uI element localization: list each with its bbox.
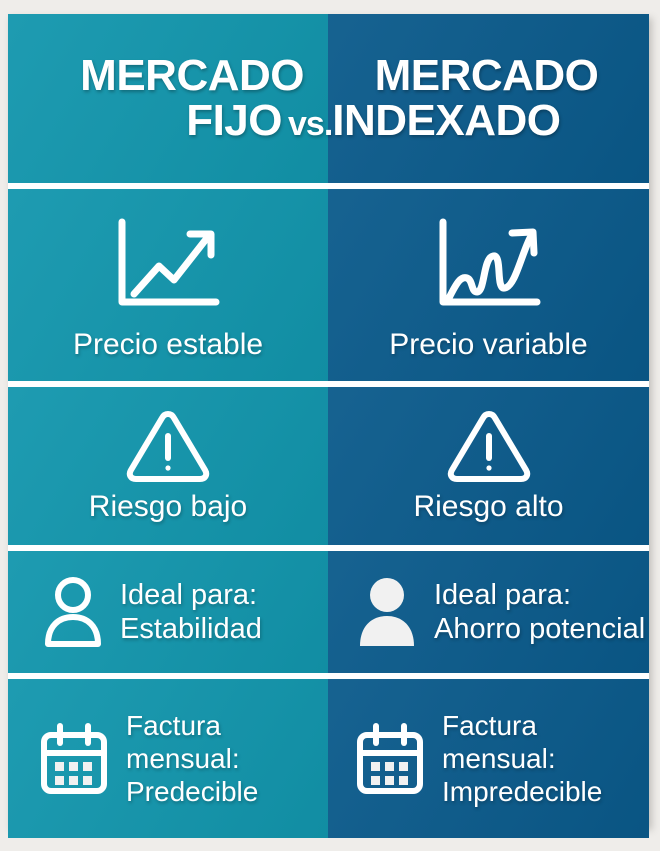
- text-factura-left: Factura mensual: Predecible: [126, 709, 258, 808]
- cell-factura-left: Factura mensual: Predecible: [8, 679, 328, 838]
- header-left-line2: FIJO: [186, 99, 304, 144]
- calendar-icon: [38, 721, 110, 797]
- caption-riesgo-left: Riesgo bajo: [89, 490, 247, 524]
- cell-ideal-right: Ideal para: Ahorro potencial: [328, 551, 649, 673]
- line-chart-steady-icon: [112, 216, 224, 314]
- header-right-line2: INDEXADO: [332, 96, 560, 145]
- infographic-root: MERCADO FIJO MERCADO vs.INDEXADO: [0, 0, 660, 851]
- text-factura-right: Factura mensual: Impredecible: [442, 709, 602, 808]
- cell-ideal-left: Ideal para: Estabilidad: [8, 551, 328, 673]
- row-precio: Precio estable Precio variable: [8, 189, 649, 381]
- ideal-left-line1: Ideal para:: [120, 578, 262, 612]
- header-right-line2-wrap: vs.INDEXADO: [288, 99, 561, 144]
- factura-left-line2: mensual:: [126, 742, 258, 775]
- caption-riesgo-right: Riesgo alto: [413, 490, 563, 524]
- cell-precio-left: Precio estable: [8, 189, 328, 381]
- factura-right-line1: Factura: [442, 709, 602, 742]
- cell-factura-right: Factura mensual: Impredecible: [328, 679, 649, 838]
- warning-triangle-icon: [446, 408, 532, 484]
- versus-label: vs.: [288, 105, 332, 143]
- row-factura: Factura mensual: Predecible: [8, 679, 649, 838]
- ideal-right-line2: Ahorro potencial: [434, 612, 645, 646]
- person-filled-icon: [356, 574, 418, 650]
- row-riesgo: Riesgo bajo Riesgo alto: [8, 387, 649, 545]
- text-ideal-left: Ideal para: Estabilidad: [120, 578, 262, 646]
- header-row: MERCADO FIJO MERCADO vs.INDEXADO: [8, 14, 649, 183]
- row-ideal-para: Ideal para: Estabilidad Ideal para: Ahor…: [8, 551, 649, 673]
- header-cell-left: MERCADO FIJO: [8, 14, 328, 183]
- factura-right-line3: Impredecible: [442, 775, 602, 808]
- ideal-left-line2: Estabilidad: [120, 612, 262, 646]
- warning-triangle-icon: [125, 408, 211, 484]
- factura-right-line2: mensual:: [442, 742, 602, 775]
- factura-left-line3: Predecible: [126, 775, 258, 808]
- cell-precio-right: Precio variable: [328, 189, 649, 381]
- caption-precio-right: Precio variable: [389, 328, 587, 362]
- person-outline-icon: [42, 574, 104, 650]
- comparison-panel: MERCADO FIJO MERCADO vs.INDEXADO: [8, 14, 649, 826]
- ideal-right-line1: Ideal para:: [434, 578, 645, 612]
- text-ideal-right: Ideal para: Ahorro potencial: [434, 578, 645, 646]
- cell-riesgo-left: Riesgo bajo: [8, 387, 328, 545]
- factura-left-line1: Factura: [126, 709, 258, 742]
- line-chart-volatile-icon: [433, 216, 545, 314]
- calendar-icon: [354, 721, 426, 797]
- header-right-line1: MERCADO: [340, 54, 649, 99]
- cell-riesgo-right: Riesgo alto: [328, 387, 649, 545]
- header-cell-right: MERCADO vs.INDEXADO: [328, 14, 649, 183]
- header-left-line1: MERCADO: [80, 54, 304, 99]
- caption-precio-left: Precio estable: [73, 328, 263, 362]
